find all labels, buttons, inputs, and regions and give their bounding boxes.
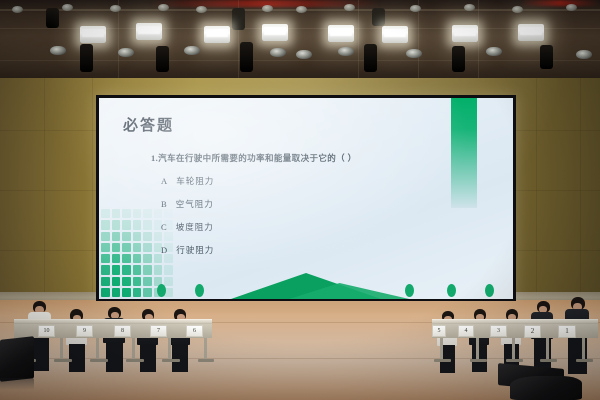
light-lens-low-7 — [406, 49, 422, 58]
desk-leg — [476, 338, 479, 360]
desk-leg — [582, 338, 585, 360]
flood-light-5 — [328, 25, 354, 42]
flood-light-7 — [452, 25, 478, 42]
light-lens-low-6 — [338, 47, 354, 56]
desk-placard-right-5: 1 — [558, 325, 576, 338]
desk-leg — [96, 338, 99, 360]
legs — [69, 344, 85, 372]
desk-placard-right-3: 3 — [490, 325, 507, 337]
projection-screen: 必答题 1.汽车在行驶中所需要的功率和能量取决于它的（ ） A 车轮阻力 B 空… — [96, 95, 516, 301]
green-gradient-bar-decoration — [451, 98, 477, 208]
floor-speaker-left — [0, 336, 34, 382]
flood-light-6 — [382, 26, 408, 43]
desk-foot — [470, 359, 487, 362]
question-text: 1.汽车在行驶中所需要的功率和能量取决于它的（ ） — [151, 152, 451, 164]
wall-panel-seam-2 — [92, 78, 93, 300]
desk-leg — [546, 338, 549, 360]
left-team-group: 10 9 8 7 6 — [14, 283, 214, 383]
desk-placard-left-2: 9 — [76, 325, 93, 337]
presentation-slide: 必答题 1.汽车在行驶中所需要的功率和能量取决于它的（ ） A 车轮阻力 B 空… — [99, 98, 513, 299]
light-fixture-body-1 — [46, 8, 59, 28]
desk-placard-left-5: 6 — [186, 325, 203, 337]
truss-vertical-4 — [418, 0, 419, 80]
moving-head-1 — [80, 44, 93, 72]
answer-option-a[interactable]: A 车轮阻力 — [151, 175, 451, 187]
green-oval-3 — [405, 284, 414, 297]
stage-light-lens-5 — [196, 6, 207, 13]
wall-panel-seam-1 — [44, 78, 45, 300]
light-lens-low-3 — [184, 46, 200, 55]
stage-light-lens-3 — [110, 5, 121, 12]
stage-light-lens-6 — [262, 5, 273, 12]
option-text-b: 空气阻力 — [176, 199, 214, 209]
light-fixture-body-3 — [372, 8, 385, 26]
stage-light-lens-11 — [512, 6, 523, 13]
option-text-a: 车轮阻力 — [176, 176, 214, 186]
desk-leg — [440, 338, 443, 360]
wall-panel-seam-4 — [580, 78, 581, 300]
stage-light-lens-8 — [344, 4, 355, 11]
moving-head-5 — [452, 46, 465, 72]
light-lens-low-2 — [118, 48, 134, 57]
desk-placard-left-1: 10 — [38, 325, 55, 337]
stage-light-lens-7 — [296, 6, 307, 13]
desk-leg — [204, 338, 207, 360]
desk-placard-left-3: 8 — [114, 325, 131, 337]
desk-foot — [162, 359, 180, 362]
answer-option-c[interactable]: C 坡度阻力 — [151, 221, 451, 233]
flood-light-4 — [262, 24, 288, 41]
flood-light-2 — [136, 23, 162, 40]
desk-leg — [168, 338, 171, 360]
moving-head-3 — [240, 42, 253, 72]
light-lens-low-9 — [576, 50, 592, 59]
truss-vertical-5 — [478, 0, 479, 80]
light-lens-low-8 — [486, 47, 502, 56]
moving-head-6 — [540, 45, 553, 69]
flood-light-8 — [518, 24, 544, 41]
light-lens-low-1 — [50, 46, 66, 55]
slide-title: 必答题 — [123, 114, 174, 135]
desk-placard-right-4: 2 — [524, 325, 541, 338]
legs — [106, 342, 123, 372]
ceiling-truss-area — [0, 0, 600, 80]
desk-placard-right-2: 4 — [458, 325, 474, 337]
legs — [172, 344, 188, 372]
light-lens-low-4 — [270, 48, 286, 57]
stage-light-lens-2 — [62, 4, 73, 11]
desk-placard-right-1: 5 — [432, 325, 446, 337]
desk-foot — [198, 359, 214, 362]
answer-option-d[interactable]: D 行驶阻力 — [151, 244, 451, 256]
wall-panel-seam-3 — [536, 78, 537, 300]
desk-leg — [60, 338, 63, 360]
option-text-d: 行驶阻力 — [176, 245, 214, 255]
desk-foot — [90, 359, 108, 362]
option-letter-a: A — [161, 176, 168, 186]
flood-light-1 — [80, 26, 106, 43]
moving-head-2 — [156, 46, 169, 72]
desk-foot — [54, 359, 72, 362]
ceiling-red-glow-right — [520, 0, 600, 6]
truss-vertical-1 — [118, 0, 119, 80]
desk-leg — [132, 338, 135, 360]
question-block: 1.汽车在行驶中所需要的功率和能量取决于它的（ ） A 车轮阻力 B 空气阻力 … — [151, 152, 451, 256]
light-fixture-body-2 — [232, 8, 245, 30]
legs — [140, 344, 156, 372]
stage-light-lens-9 — [410, 5, 421, 12]
stage-light-lens-1 — [12, 6, 23, 13]
desk-foot — [434, 359, 451, 362]
desk-foot — [576, 359, 593, 362]
option-text-c: 坡度阻力 — [176, 222, 214, 232]
desk-leg — [512, 338, 515, 360]
desk-placard-left-4: 7 — [150, 325, 167, 337]
light-lens-low-5 — [296, 50, 312, 59]
moving-head-4 — [364, 44, 377, 72]
desk-foot — [506, 359, 523, 362]
legs — [472, 344, 487, 372]
stage-scene: 必答题 1.汽车在行驶中所需要的功率和能量取决于它的（ ） A 车轮阻力 B 空… — [0, 0, 600, 400]
truss-vertical-3 — [358, 0, 359, 80]
flood-light-3 — [204, 26, 230, 43]
desk-foot — [126, 359, 144, 362]
floor-speaker-right-front — [510, 376, 582, 400]
stage-light-lens-10 — [464, 4, 475, 11]
stage-light-lens-4 — [158, 4, 169, 11]
answer-option-b[interactable]: B 空气阻力 — [151, 198, 451, 210]
stage-light-lens-12 — [566, 4, 577, 11]
floor-speaker-left-reflection — [0, 378, 34, 390]
desk-foot — [540, 359, 557, 362]
